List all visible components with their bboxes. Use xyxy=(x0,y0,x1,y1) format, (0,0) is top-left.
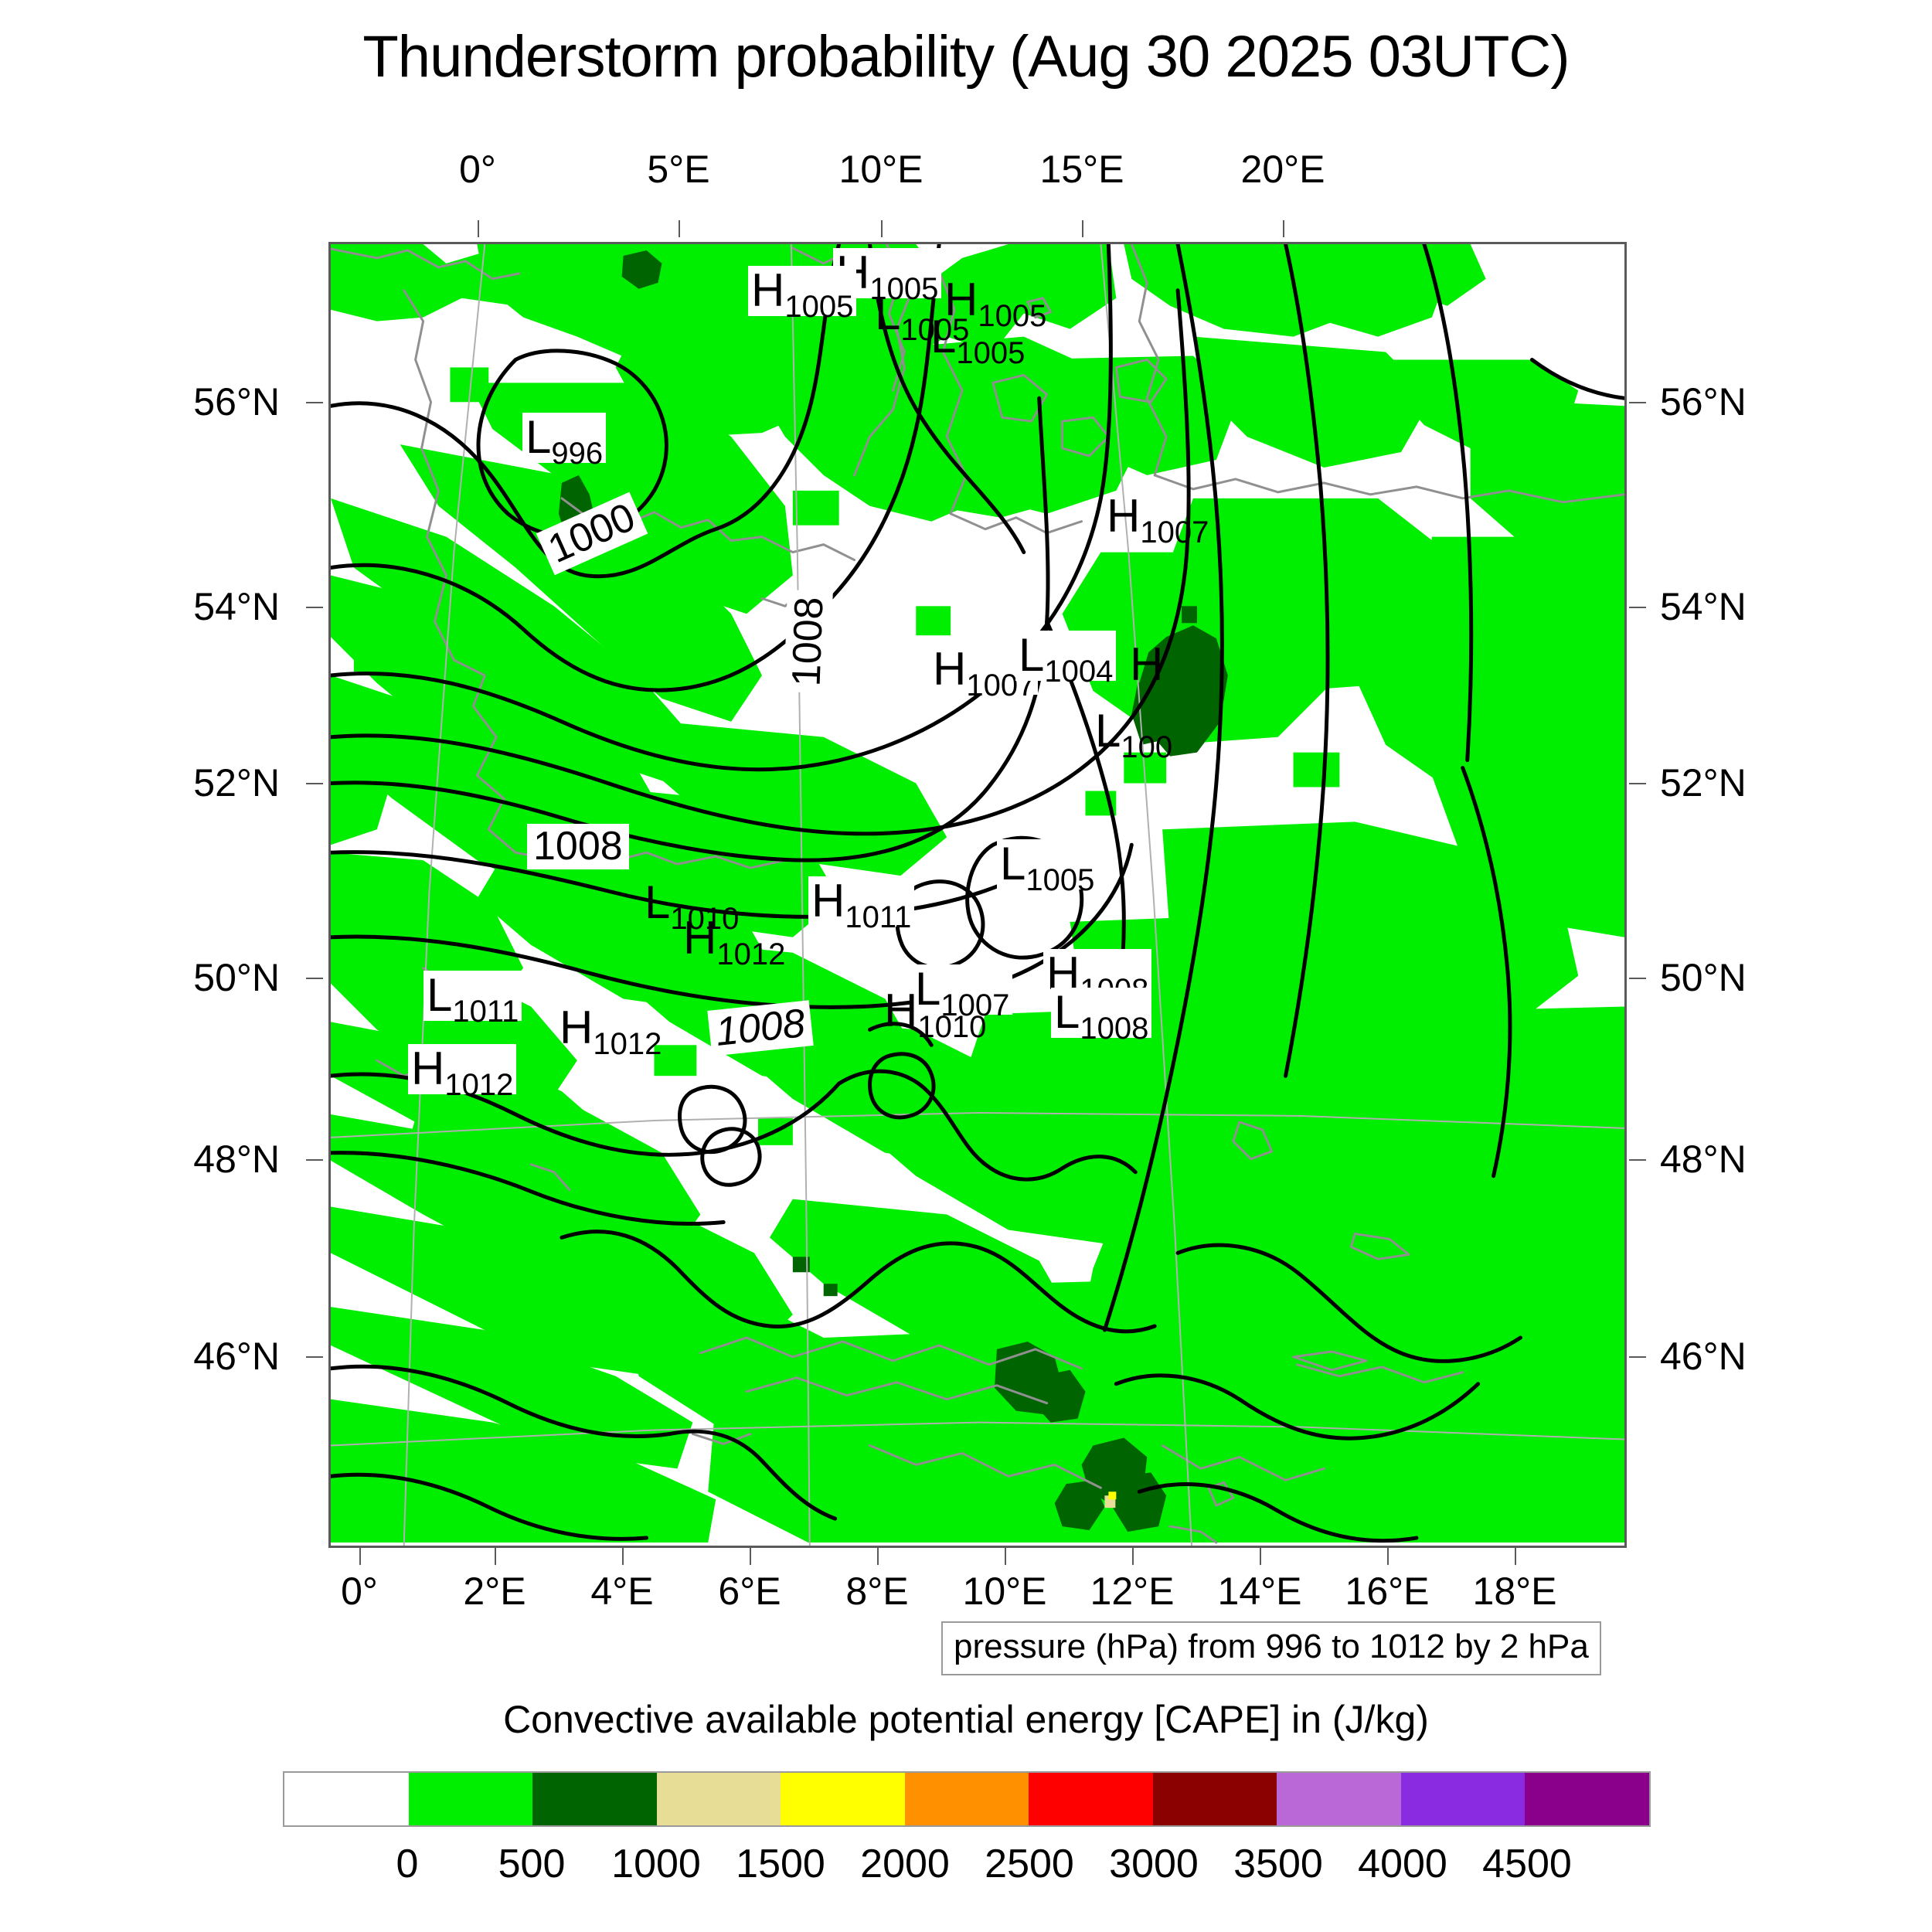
pressure-center-glyph: H xyxy=(411,1043,444,1094)
pressure-center-value: 100 xyxy=(1121,730,1172,764)
lat-right-label-5: 46°N xyxy=(1660,1334,1747,1379)
lon-bottom-label-2: 4°E xyxy=(590,1569,653,1614)
colorbar-swatch-9 xyxy=(1401,1773,1526,1825)
colorbar-tick-1: 500 xyxy=(498,1841,566,1887)
colorbar-tick-5: 2500 xyxy=(985,1841,1074,1887)
cape-colorbar[interactable] xyxy=(283,1771,1651,1827)
pressure-contour-note: pressure (hPa) from 996 to 1012 by 2 hPa xyxy=(941,1621,1601,1675)
colorbar-swatch-10 xyxy=(1525,1773,1649,1825)
pressure-center-H-1012-a: H1012 xyxy=(680,913,788,964)
colorbar-tick-2: 1000 xyxy=(611,1841,701,1887)
page-title: Thunderstorm probability (Aug 30 2025 03… xyxy=(0,23,1932,90)
lon-top-label-4: 20°E xyxy=(1241,147,1325,192)
lon-bottom-tick-2 xyxy=(622,1548,624,1565)
pressure-center-value: 1008 xyxy=(1080,1012,1148,1046)
pressure-center-value: 1007 xyxy=(1140,515,1209,549)
contour-label-1008-a: 1008 xyxy=(527,824,629,869)
pressure-center-L-1005-b: L1005 xyxy=(927,312,1028,362)
lon-bottom-label-8: 16°E xyxy=(1345,1569,1430,1614)
pressure-center-H-1005-b: H1005 xyxy=(748,266,856,316)
pressure-center-glyph: H xyxy=(1107,490,1140,542)
pressure-center-L-1011: L1011 xyxy=(423,971,522,1021)
lon-bottom-label-0: 0° xyxy=(341,1569,378,1614)
pressure-center-glyph: H xyxy=(1130,638,1163,690)
lat-left-tick-5 xyxy=(306,1356,323,1358)
colorbar-swatch-8 xyxy=(1277,1773,1401,1825)
pressure-center-value: 996 xyxy=(551,437,603,471)
lat-right-label-0: 56°N xyxy=(1660,379,1747,424)
lon-bottom-label-1: 2°E xyxy=(463,1569,526,1614)
lon-bottom-tick-8 xyxy=(1387,1548,1389,1565)
lat-left-tick-1 xyxy=(306,607,323,608)
lat-right-tick-4 xyxy=(1629,1159,1646,1161)
pressure-center-value: 1005 xyxy=(956,336,1025,370)
colorbar-swatch-6 xyxy=(1029,1773,1153,1825)
pressure-center-glyph: L xyxy=(875,287,900,339)
lon-bottom-tick-9 xyxy=(1515,1548,1516,1565)
pressure-center-L-1008: L1008 xyxy=(1051,988,1151,1038)
colorbar-tick-3: 1500 xyxy=(736,1841,825,1887)
pressure-center-value: 1011 xyxy=(452,995,519,1029)
lon-bottom-label-5: 10°E xyxy=(963,1569,1047,1614)
lon-top-tick-3 xyxy=(1082,220,1083,237)
lat-right-tick-0 xyxy=(1629,402,1646,403)
colorbar-swatch-7 xyxy=(1153,1773,1277,1825)
lon-top-label-2: 10°E xyxy=(839,147,923,192)
lon-top-tick-4 xyxy=(1283,220,1284,237)
lat-left-label-2: 52°N xyxy=(193,760,280,805)
lon-top-tick-2 xyxy=(881,220,883,237)
pressure-center-value: 1004 xyxy=(1044,655,1113,689)
contour-label-1008-b: 1008 xyxy=(784,590,832,693)
lon-bottom-tick-5 xyxy=(1005,1548,1006,1565)
pressure-center-H-1010: H1010 xyxy=(881,986,989,1036)
colorbar-caption: Convective available potential energy [C… xyxy=(0,1697,1932,1742)
lat-right-label-1: 54°N xyxy=(1660,584,1747,629)
lon-bottom-tick-0 xyxy=(359,1548,361,1565)
lon-bottom-tick-7 xyxy=(1260,1548,1261,1565)
lon-bottom-label-4: 8°E xyxy=(845,1569,908,1614)
pressure-center-value: 1012 xyxy=(716,937,785,971)
pressure-center-value: 1012 xyxy=(444,1068,513,1102)
lon-bottom-label-9: 18°E xyxy=(1473,1569,1557,1614)
pressure-center-L-996: L996 xyxy=(522,413,606,463)
lon-bottom-label-3: 6°E xyxy=(718,1569,781,1614)
pressure-center-glyph: L xyxy=(427,969,452,1021)
lat-left-label-3: 50°N xyxy=(193,955,280,1000)
pressure-center-glyph: H xyxy=(683,912,716,964)
lat-right-label-4: 48°N xyxy=(1660,1137,1747,1182)
pressure-center-glyph: L xyxy=(1095,705,1121,757)
lon-top-label-3: 15°E xyxy=(1040,147,1124,192)
pressure-center-L-1004: L1004 xyxy=(1015,631,1116,681)
lon-top-label-0: 0° xyxy=(459,147,496,192)
lon-bottom-tick-1 xyxy=(495,1548,496,1565)
pressure-center-H-1007-top: H1007 xyxy=(1104,492,1212,542)
pressure-center-value: 1011 xyxy=(845,900,911,934)
lat-left-tick-4 xyxy=(306,1159,323,1161)
pressure-center-H-1011: H1011 xyxy=(808,876,914,927)
lat-left-label-1: 54°N xyxy=(193,584,280,629)
weather-map[interactable]: H1005 H1005 L1005 H1005 L1005 H1007 L996… xyxy=(328,242,1627,1548)
pressure-center-L-100-edge: L100 xyxy=(1092,706,1175,757)
colorbar-swatch-3 xyxy=(657,1773,781,1825)
colorbar-swatch-0 xyxy=(284,1773,409,1825)
pressure-center-glyph: L xyxy=(1000,838,1026,889)
lon-top-tick-1 xyxy=(679,220,680,237)
lat-left-tick-3 xyxy=(306,978,323,979)
colorbar-swatch-2 xyxy=(532,1773,657,1825)
pressure-center-L-1005-se: L1005 xyxy=(997,839,1097,889)
lon-bottom-tick-4 xyxy=(877,1548,879,1565)
colorbar-tick-8: 4000 xyxy=(1358,1841,1447,1887)
lat-left-tick-2 xyxy=(306,783,323,784)
pressure-center-glyph: L xyxy=(1054,986,1080,1038)
pressure-center-H-1012-c: H1012 xyxy=(408,1044,516,1094)
lon-bottom-label-7: 14°E xyxy=(1218,1569,1302,1614)
colorbar-tick-4: 2000 xyxy=(860,1841,950,1887)
pressure-center-glyph: H xyxy=(560,1002,593,1053)
pressure-center-value: 1005 xyxy=(784,290,853,324)
lat-left-label-5: 46°N xyxy=(193,1334,280,1379)
pressure-center-value: 1005 xyxy=(1026,863,1094,897)
lat-left-label-0: 56°N xyxy=(193,379,280,424)
lat-left-tick-0 xyxy=(306,402,323,403)
lat-right-label-2: 52°N xyxy=(1660,760,1747,805)
pressure-center-glyph: L xyxy=(1019,629,1044,681)
pressure-center-H-edge: H xyxy=(1127,640,1166,690)
colorbar-swatch-4 xyxy=(781,1773,905,1825)
pressure-center-value: 1010 xyxy=(917,1010,986,1044)
colorbar-tick-7: 3500 xyxy=(1233,1841,1323,1887)
lat-right-label-3: 50°N xyxy=(1660,955,1747,1000)
pressure-center-glyph: H xyxy=(884,985,917,1036)
pressure-center-glyph: H xyxy=(933,643,966,695)
lat-right-tick-1 xyxy=(1629,607,1646,608)
lon-bottom-tick-6 xyxy=(1132,1548,1134,1565)
lon-bottom-label-6: 12°E xyxy=(1090,1569,1175,1614)
colorbar-tick-9: 4500 xyxy=(1482,1841,1572,1887)
colorbar-tick-labels: 0 500 1000 1500 2000 2500 3000 3500 4000… xyxy=(283,1841,1651,1895)
pressure-center-glyph: H xyxy=(751,264,784,316)
colorbar-swatch-1 xyxy=(409,1773,533,1825)
lon-top-tick-0 xyxy=(478,220,479,237)
lat-right-tick-3 xyxy=(1629,978,1646,979)
lat-left-label-4: 48°N xyxy=(193,1137,280,1182)
pressure-center-value: 1012 xyxy=(593,1027,662,1061)
lon-bottom-tick-3 xyxy=(750,1548,751,1565)
lat-right-tick-2 xyxy=(1629,783,1646,784)
colorbar-tick-6: 3000 xyxy=(1109,1841,1199,1887)
pressure-center-H-1012-b: H1012 xyxy=(556,1003,665,1053)
pressure-center-glyph: L xyxy=(526,411,551,463)
lon-top-label-1: 5°E xyxy=(647,147,709,192)
pressure-center-glyph: L xyxy=(930,311,956,362)
colorbar-swatch-5 xyxy=(905,1773,1029,1825)
pressure-center-glyph: H xyxy=(811,875,845,927)
lat-right-tick-5 xyxy=(1629,1356,1646,1358)
pressure-center-glyph: L xyxy=(645,876,670,928)
colorbar-tick-0: 0 xyxy=(396,1841,419,1887)
